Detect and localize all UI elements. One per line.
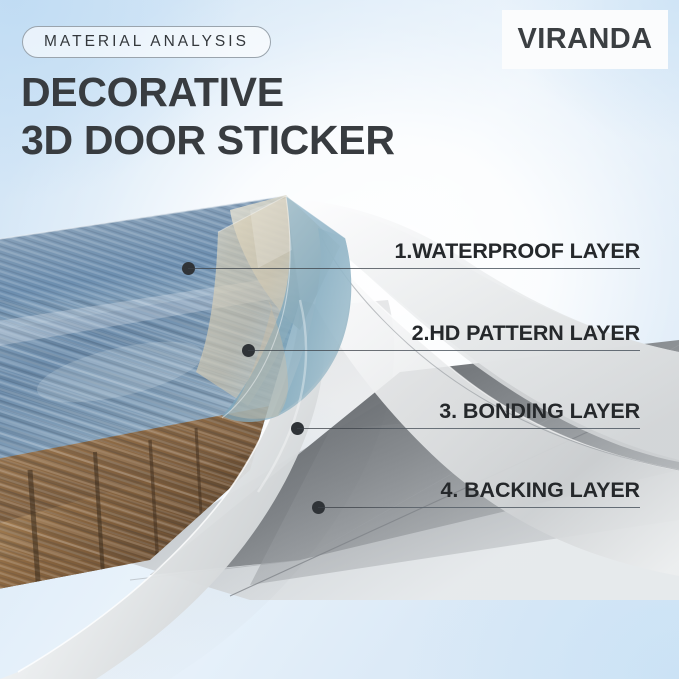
callout-waterproof-layer: 1.WATERPROOF LAYER [362, 228, 640, 269]
callout-label-bonding-layer: 3. BONDING LAYER [439, 399, 640, 424]
callout-backing-layer: 4. BACKING LAYER [362, 467, 640, 508]
callout-rule-waterproof-layer [362, 268, 640, 269]
eyebrow-badge: MATERIAL ANALYSIS [22, 26, 271, 58]
title-line-2: 3D DOOR STICKER [21, 116, 521, 164]
brand-logo: VIRANDA [502, 10, 668, 69]
title-line-1: DECORATIVE [21, 68, 521, 116]
callout-label-backing-layer: 4. BACKING LAYER [440, 478, 640, 503]
callout-label-waterproof-layer: 1.WATERPROOF LAYER [395, 239, 640, 264]
page-title: DECORATIVE 3D DOOR STICKER [21, 68, 521, 164]
callout-rule-backing-layer [362, 507, 640, 508]
callout-label-hd-pattern-layer: 2.HD PATTERN LAYER [412, 321, 640, 346]
callout-hd-pattern-layer: 2.HD PATTERN LAYER [362, 310, 640, 351]
brand-name: VIRANDA [518, 23, 653, 56]
callout-rule-bonding-layer [362, 428, 640, 429]
eyebrow-label: MATERIAL ANALYSIS [44, 33, 249, 51]
callout-rule-hd-pattern-layer [362, 350, 640, 351]
infographic-canvas: MATERIAL ANALYSIS DECORATIVE 3D DOOR STI… [0, 0, 679, 679]
callout-bonding-layer: 3. BONDING LAYER [362, 388, 640, 429]
